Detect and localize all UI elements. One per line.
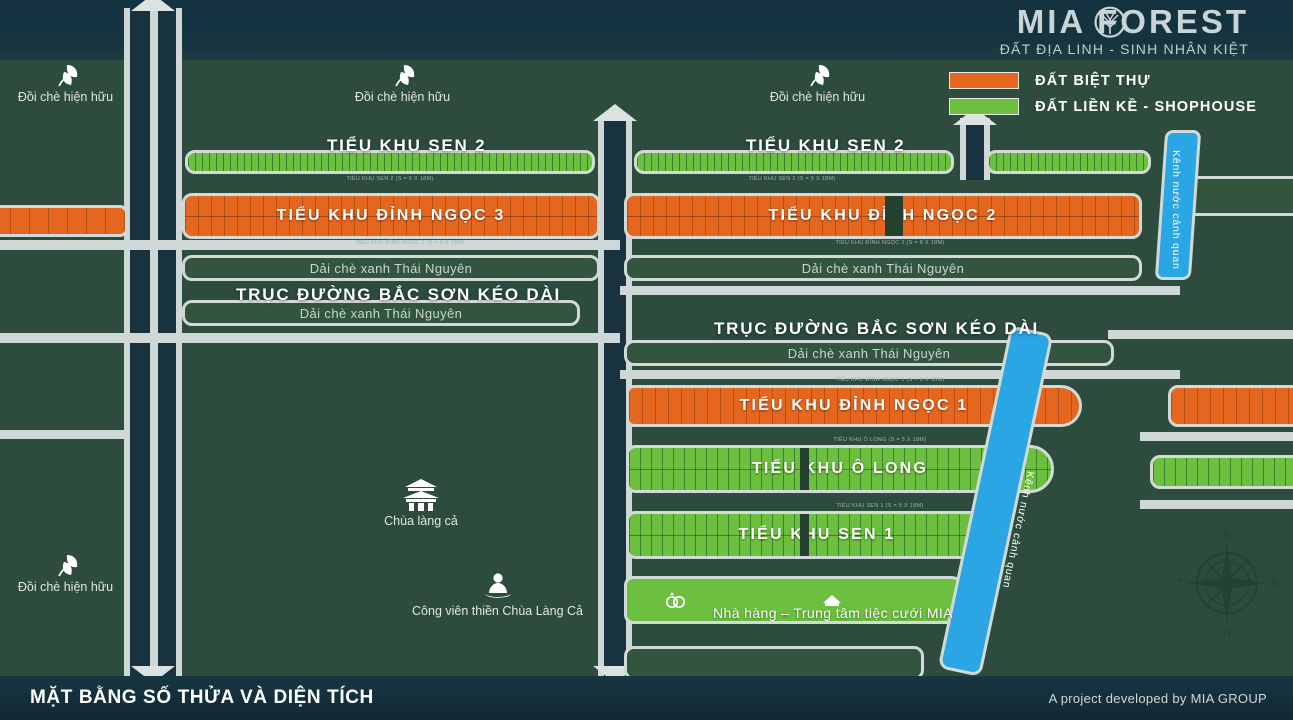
- poi-tea-hill-2-label: Đồi chè hiện hữu: [345, 90, 460, 104]
- block-dinh-ngoc-1-label: TIỂU KHU ĐỈNH NGỌC 1: [740, 397, 969, 415]
- road-horizontal-right-1: [620, 286, 1180, 295]
- brand-tagline: ĐẤT ĐỊA LINH - SINH NHÂN KIỆT: [1000, 41, 1249, 57]
- leaf-icon: [51, 62, 81, 88]
- green-strip-2: Dải chè xanh Thái Nguyên: [624, 255, 1142, 281]
- road-axis-label-left: TRỤC ĐƯỜNG BẮC SƠN KÉO DÀI: [236, 285, 561, 305]
- block-dinh-ngoc-2[interactable]: TIỂU KHU ĐỈNH NGỌC 2: [624, 193, 1142, 239]
- block-olong-separator: [800, 448, 809, 490]
- canal-upper-label: Kênh nước cảnh quan: [1170, 150, 1182, 270]
- road-vertical-b-fill: [604, 118, 626, 680]
- block-dinh-ngoc-2-label: TIỂU KHU ĐỈNH NGỌC 2: [769, 207, 998, 225]
- block-sen-1[interactable]: TIỂU KHU SEN 1: [626, 511, 1008, 559]
- poi-tea-hill-2: Đồi chè hiện hữu: [345, 62, 460, 104]
- block-dn2-separator: [885, 196, 903, 236]
- block-sen-1-label: TIỂU KHU SEN 1: [738, 526, 895, 544]
- pagoda-icon: [399, 478, 443, 512]
- block-sen2-mid-micro: TIỂU KHU SEN 2 (S = 5 X 18M): [712, 176, 872, 182]
- lot-divisions: [0, 208, 125, 234]
- poi-tea-hill-1-label: Đồi chè hiện hữu: [8, 90, 123, 104]
- road-axis-label-right: TRỤC ĐƯỜNG BẮC SƠN KÉO DÀI: [714, 319, 1039, 339]
- road-vertical-c-fill: [966, 118, 984, 180]
- road-vertical-a-fill: [130, 8, 150, 680]
- road-horizontal-top-left: [0, 240, 620, 250]
- block-villa-right-edge[interactable]: [1168, 385, 1293, 427]
- road-vertical-a-fill2: [158, 8, 176, 680]
- brand-title: MIA FOREST: [1000, 4, 1249, 40]
- block-dn1-micro: TIỂU KHU ĐỈNH NGỌC 1 (S = 8 X 18M): [800, 377, 980, 383]
- road-vertical-b-cap-top: [593, 104, 637, 121]
- road-horizontal-right-4: [1140, 432, 1293, 441]
- wedding-rings-icon: [665, 591, 687, 609]
- block-right-edge-green: [1186, 176, 1293, 216]
- meditation-icon: [481, 572, 515, 602]
- compass-rose: B N T Đ: [1172, 528, 1282, 638]
- block-dn3-micro: TIỂU KHU ĐỈNH NGỌC 3 (S = 8 X 18M): [320, 240, 500, 246]
- green-strip-2-label: Dải chè xanh Thái Nguyên: [802, 261, 965, 276]
- legend-item-villa-label: ĐẤT BIỆT THỰ: [1035, 73, 1150, 89]
- legend-item-villa[interactable]: ĐẤT BIỆT THỰ: [949, 72, 1257, 89]
- legend-item-shophouse[interactable]: ĐẤT LIỀN KỀ - SHOPHOUSE: [949, 98, 1257, 115]
- block-villa-left-edge[interactable]: [0, 205, 128, 237]
- green-strip-1-label: Dải chè xanh Thái Nguyên: [310, 261, 473, 276]
- road-horizontal-right-5: [1140, 500, 1293, 509]
- poi-tea-hill-4-label: Đồi chè hiện hữu: [8, 580, 123, 594]
- block-sen2-left-label: TIỂU KHU SEN 2: [327, 136, 486, 156]
- lot-divisions: [989, 153, 1148, 171]
- block-bottom-right-partial: [624, 646, 924, 680]
- poi-zen-park-label: Công viên thiền Chùa Làng Cả: [395, 604, 600, 618]
- poi-zen-park: Công viên thiền Chùa Làng Cả: [395, 572, 600, 618]
- block-dinh-ngoc-3[interactable]: TIỂU KHU ĐỈNH NGỌC 3: [182, 193, 600, 239]
- green-strip-1: Dải chè xanh Thái Nguyên: [182, 255, 600, 281]
- leaf-icon: [51, 552, 81, 578]
- leaf-icon: [803, 62, 833, 88]
- leaf-icon: [388, 62, 418, 88]
- block-dn2-micro: TIỂU KHU ĐỈNH NGỌC 2 (S = 8 X 18M): [800, 240, 980, 246]
- masterplan-map: TIỂU KHU SEN 2 TIỂU KHU SEN 2 (S = 5 X 1…: [0, 0, 1293, 720]
- block-sen2-right[interactable]: [986, 150, 1151, 174]
- legend-item-shophouse-label: ĐẤT LIỀN KỀ - SHOPHOUSE: [1035, 99, 1257, 115]
- block-sen1-micro: TIỂU KHU SEN 1 (S = 5 X 18M): [790, 503, 970, 509]
- block-dinh-ngoc-3-label: TIỂU KHU ĐỈNH NGỌC 3: [277, 207, 506, 225]
- compass-west: T: [1176, 578, 1183, 590]
- townhouse-shophouse-swatch: [949, 98, 1019, 115]
- green-strip-3-label: Dải chè xanh Thái Nguyên: [300, 306, 463, 321]
- poi-pagoda-label: Chùa làng cả: [366, 514, 476, 528]
- road-horizontal-mid-left: [0, 333, 620, 343]
- block-sen2-mid-label: TIỂU KHU SEN 2: [746, 136, 905, 156]
- brand-block: MIA FOREST ĐẤT ĐỊA LINH - SINH NHÂN KIỆT: [1000, 4, 1249, 57]
- green-strip-4-label: Dải chè xanh Thái Nguyên: [788, 346, 951, 361]
- footer-title: MẶT BẰNG SỐ THỬA VÀ DIỆN TÍCH: [30, 687, 374, 709]
- compass-south: N: [1223, 627, 1231, 638]
- poi-tea-hill-3: Đồi chè hiện hữu: [760, 62, 875, 104]
- block-restaurant[interactable]: Nhà hàng – Trung tâm tiệc cưới MIA: [624, 576, 974, 624]
- legend: ĐẤT BIỆT THỰ ĐẤT LIỀN KỀ - SHOPHOUSE: [949, 72, 1257, 124]
- road-vertical-a-cap-top: [131, 0, 175, 11]
- compass-north: B: [1223, 530, 1230, 542]
- poi-tea-hill-3-label: Đồi chè hiện hữu: [760, 90, 875, 104]
- poi-tea-hill-4: Đồi chè hiện hữu: [8, 552, 123, 594]
- lot-divisions: [1153, 458, 1293, 486]
- villa-land-swatch: [949, 72, 1019, 89]
- footer-band: MẶT BẰNG SỐ THỬA VÀ DIỆN TÍCH A project …: [0, 676, 1293, 720]
- lot-divisions: [1171, 388, 1293, 424]
- footer-credit: A project developed by MIA GROUP: [1049, 691, 1267, 706]
- block-olong-micro: TIỂU KHU Ô LONG (S = 5 X 18M): [790, 437, 970, 443]
- road-horizontal-bottom-left: [0, 430, 130, 439]
- poi-pagoda: Chùa làng cả: [366, 478, 476, 528]
- poi-tea-hill-1: Đồi chè hiện hữu: [8, 62, 123, 104]
- block-shophouse-right-edge[interactable]: [1150, 455, 1293, 489]
- block-restaurant-label: Nhà hàng – Trung tâm tiệc cưới MIA: [713, 605, 953, 621]
- block-sen1-separator: [800, 514, 809, 556]
- road-horizontal-right-3: [1108, 330, 1293, 339]
- block-o-long-label: TIỂU KHU Ô LONG: [752, 460, 928, 478]
- block-sen2-left-micro: TIỂU KHU SEN 2 (S = 5 X 18M): [310, 176, 470, 182]
- compass-east: Đ: [1271, 578, 1279, 590]
